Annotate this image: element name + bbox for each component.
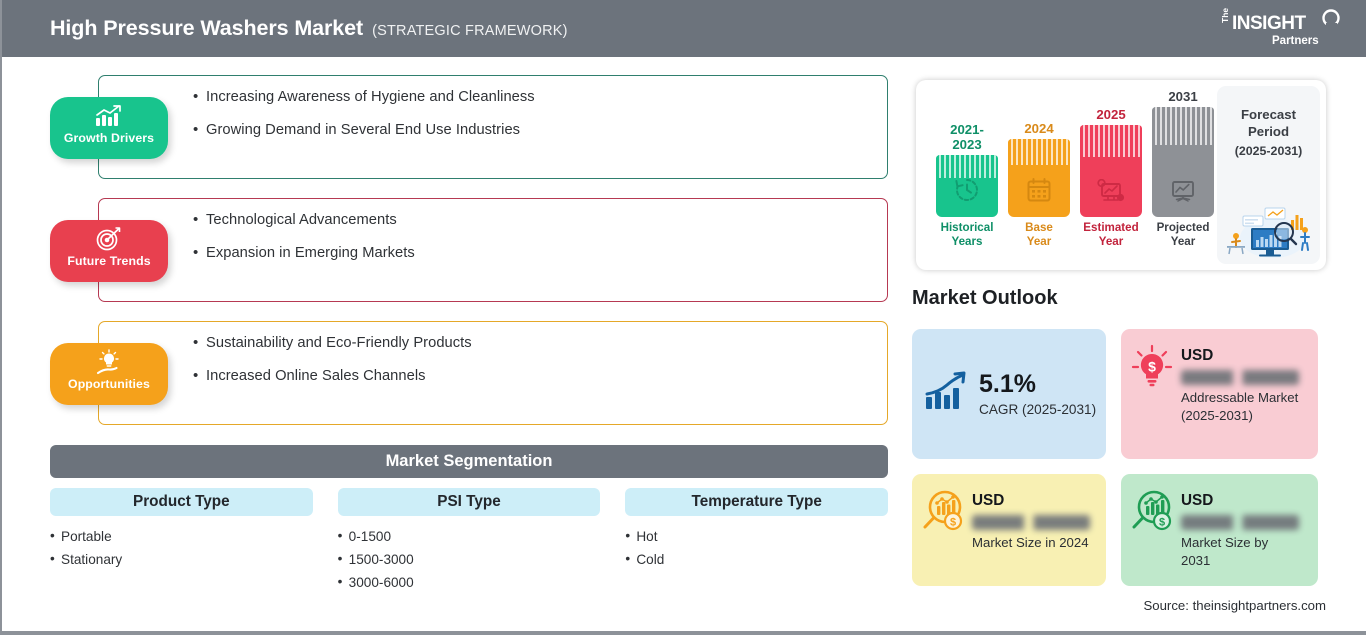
forecast-analytics-icon (1097, 179, 1125, 208)
currency-label: USD (972, 492, 1090, 510)
list-item: 1500-3000 (338, 552, 601, 567)
page-title: High Pressure Washers Market (50, 16, 363, 41)
svg-text:$: $ (950, 517, 956, 529)
list-item: Sustainability and Eco-Friendly Products (193, 334, 887, 353)
market-segmentation-header: Market Segmentation (50, 445, 888, 478)
segment-list: Hot Cold (625, 529, 888, 567)
list-item: Stationary (50, 552, 313, 567)
forecast-timeline-chart: 2021-2023HistoricalYears2024BaseYear2025… (916, 80, 1326, 270)
bar-caption: ProjectedYear (1152, 221, 1214, 248)
logo-partners-text: Partners (1272, 35, 1319, 47)
segment-list: 0-1500 1500-3000 3000-6000 (338, 529, 601, 590)
page-subtitle: (STRATEGIC FRAMEWORK) (372, 23, 568, 39)
bar-stripe-top (936, 155, 998, 178)
segment-column-temperature-type: Temperature Type Hot Cold (625, 488, 888, 598)
list-item: Technological Advancements (193, 211, 887, 230)
bar-year-label: 2024 (1008, 121, 1070, 136)
bar-chart-growth-icon (94, 102, 124, 130)
market-size-2024-card[interactable]: $ USD Market Size in 2024 (912, 474, 1106, 586)
bar-stripe-top (1152, 107, 1214, 145)
opportunities-bullets: Sustainability and Eco-Friendly Products… (99, 322, 887, 386)
data-analysis-illustration (1221, 194, 1317, 260)
masked-value (1181, 370, 1299, 385)
cagr-label: CAGR (2025-2031) (979, 402, 1096, 417)
future-trends-badge[interactable]: Future Trends (50, 220, 168, 282)
strategic-framework-column: Increasing Awareness of Hygiene and Clea… (2, 57, 902, 635)
segment-header: Product Type (50, 488, 313, 516)
lightbulb-dollar-icon: $ (1129, 343, 1175, 459)
logo-the-text: The (1220, 8, 1230, 23)
growth-drivers-bullets: Increasing Awareness of Hygiene and Clea… (99, 76, 887, 140)
header-title-group: High Pressure Washers Market (STRATEGIC … (50, 16, 568, 41)
bar (1152, 107, 1214, 217)
future-trends-panel: Technological Advancements Expansion in … (98, 198, 888, 302)
person-left (1232, 233, 1240, 247)
calendar-icon (1026, 177, 1052, 208)
forecast-period-title-2: Period (1217, 123, 1320, 140)
masked-value (1181, 515, 1299, 530)
forecast-period-range: (2025-2031) (1217, 144, 1320, 158)
target-dartboard-icon (95, 225, 123, 253)
currency-label: USD (1181, 492, 1299, 510)
cagr-card[interactable]: 5.1% CAGR (2025-2031) (912, 329, 1106, 459)
infographic-page: High Pressure Washers Market (STRATEGIC … (0, 0, 1366, 635)
lightbulb-in-hand-icon (94, 348, 124, 376)
list-item: Increasing Awareness of Hygiene and Clea… (193, 88, 887, 107)
bar-column-projected-year: 2031ProjectedYear (1152, 89, 1214, 248)
page-header: High Pressure Washers Market (STRATEGIC … (2, 0, 1366, 57)
list-item: Cold (625, 552, 888, 567)
opportunities-badge[interactable]: Opportunities (50, 343, 168, 405)
badge-label: Opportunities (68, 377, 150, 391)
svg-text:$: $ (1159, 517, 1165, 529)
addressable-market-card[interactable]: $ USD Addressable Market (2025-2031) (1121, 329, 1318, 459)
cagr-value: 5.1% (979, 372, 1096, 397)
currency-label: USD (1181, 347, 1299, 365)
market-size-2031-card[interactable]: $ USD Market Size by 2031 (1121, 474, 1318, 586)
bar-caption: EstimatedYear (1080, 221, 1142, 248)
forecast-period-title-1: Forecast (1217, 106, 1320, 123)
market-outlook-column: 2021-2023HistoricalYears2024BaseYear2025… (902, 57, 1366, 635)
bar-year-label: 2025 (1080, 107, 1142, 122)
projection-screen-icon (1169, 179, 1197, 208)
bar (1080, 125, 1142, 217)
forecast-period-panel: Forecast Period (2025-2031) (1217, 86, 1320, 264)
list-item: Increased Online Sales Channels (193, 367, 887, 386)
list-item: 3000-6000 (338, 575, 601, 590)
bar-column-base-year: 2024BaseYear (1008, 121, 1070, 248)
opportunities-panel: Sustainability and Eco-Friendly Products… (98, 321, 888, 425)
bar-stripe-top (1008, 139, 1070, 165)
outlook-cards: 5.1% CAGR (2025-2031) (912, 329, 1326, 601)
bar-chart-arrow-up-icon (923, 370, 971, 419)
forecast-bars: 2021-2023HistoricalYears2024BaseYear2025… (936, 80, 1226, 270)
svg-text:$: $ (1148, 359, 1156, 375)
segment-header: PSI Type (338, 488, 601, 516)
card-label: Addressable Market (2025-2031) (1181, 389, 1299, 425)
future-trends-bullets: Technological Advancements Expansion in … (99, 199, 887, 263)
growth-drivers-badge[interactable]: Growth Drivers (50, 97, 168, 159)
bar-stripe-top (1080, 125, 1142, 157)
bar-caption: BaseYear (1008, 221, 1070, 248)
segment-list: Portable Stationary (50, 529, 313, 567)
list-item: Portable (50, 529, 313, 544)
outlook-card-row-2: $ USD Market Size in 2024 (912, 474, 1326, 586)
bar (1008, 139, 1070, 217)
clock-history-icon (954, 177, 980, 208)
segment-header: Temperature Type (625, 488, 888, 516)
card-label: Market Size by 2031 (1181, 534, 1299, 570)
segment-column-psi-type: PSI Type 0-1500 1500-3000 3000-6000 (338, 488, 601, 598)
magnifier-chart-dollar-icon: $ (1129, 488, 1175, 586)
list-item: Hot (625, 529, 888, 544)
logo-insight-text: INSIGHT (1232, 13, 1306, 34)
bar-column-historical-years: 2021-2023HistoricalYears (936, 122, 998, 248)
bar (936, 155, 998, 217)
list-item: Growing Demand in Several End Use Indust… (193, 121, 887, 140)
bar-caption: HistoricalYears (936, 221, 998, 248)
insight-partners-logo: The INSIGHT Partners (1220, 7, 1348, 51)
card-label: Market Size in 2024 (972, 534, 1090, 552)
source-attribution: Source: theinsightpartners.com (1143, 598, 1326, 613)
bar-year-label: 2031 (1152, 89, 1214, 104)
badge-label: Growth Drivers (64, 131, 154, 145)
badge-label: Future Trends (67, 254, 150, 268)
growth-drivers-panel: Increasing Awareness of Hygiene and Clea… (98, 75, 888, 179)
list-item: 0-1500 (338, 529, 601, 544)
magnifier-chart-dollar-icon: $ (920, 488, 966, 586)
bar-column-estimated-year: 2025EstimatedYear (1080, 107, 1142, 248)
market-outlook-title: Market Outlook (912, 287, 1058, 310)
outlook-card-row-1: 5.1% CAGR (2025-2031) (912, 329, 1326, 459)
segmentation-columns: Product Type Portable Stationary PSI Typ… (50, 488, 888, 598)
bar-year-label: 2021-2023 (936, 122, 998, 152)
list-item: Expansion in Emerging Markets (193, 244, 887, 263)
segment-column-product-type: Product Type Portable Stationary (50, 488, 313, 598)
masked-value (972, 515, 1090, 530)
